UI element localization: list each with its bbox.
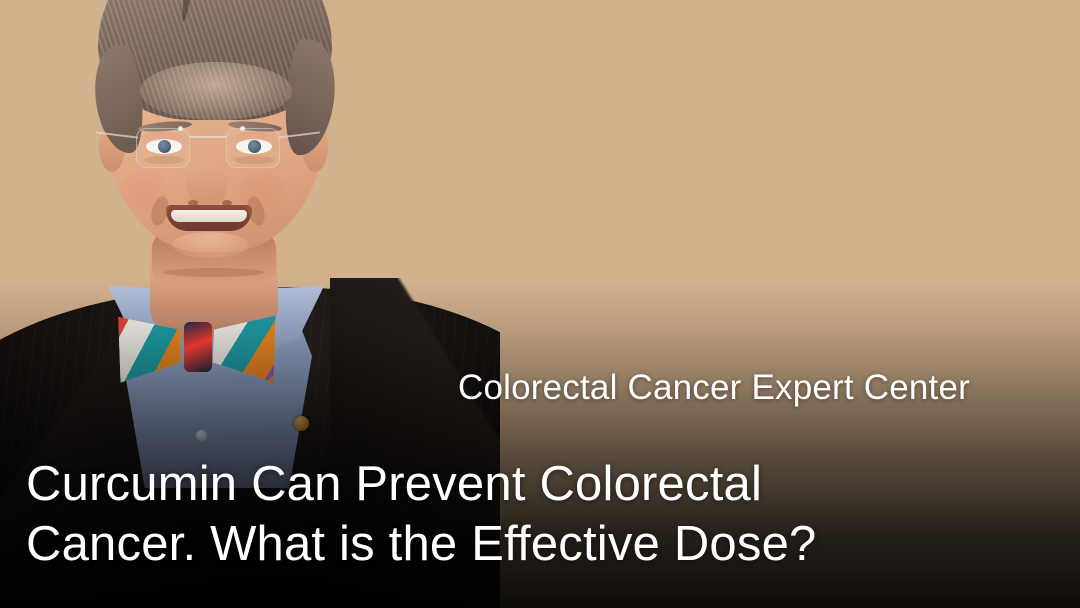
bowtie-knot bbox=[184, 322, 212, 372]
video-title-line-1: Curcumin Can Prevent Colorectal bbox=[26, 455, 1056, 515]
neck-crease bbox=[164, 268, 264, 277]
video-title: Curcumin Can Prevent Colorectal Cancer. … bbox=[26, 455, 1056, 575]
eyeglass-lens-left bbox=[136, 128, 190, 168]
center-name-subtitle: Colorectal Cancer Expert Center bbox=[458, 368, 970, 408]
forehead-highlight bbox=[140, 62, 292, 120]
eyeglass-nosepad-right bbox=[240, 126, 245, 131]
bowtie bbox=[118, 306, 276, 390]
video-thumbnail-slide: Colorectal Cancer Expert Center Curcumin… bbox=[0, 0, 1080, 608]
chin bbox=[172, 232, 248, 258]
shirt-button bbox=[196, 430, 207, 441]
bowtie-wing-right bbox=[207, 305, 278, 389]
mouth bbox=[166, 205, 252, 231]
eyeglass-lens-right bbox=[226, 128, 280, 168]
eyeglass-nosepad-left bbox=[178, 126, 183, 131]
bowtie-wing-left bbox=[117, 305, 188, 389]
eyeglass-bridge bbox=[189, 136, 227, 138]
teeth bbox=[171, 210, 247, 222]
lapel-pin bbox=[294, 416, 309, 431]
video-title-line-2: Cancer. What is the Effective Dose? bbox=[26, 515, 1056, 575]
